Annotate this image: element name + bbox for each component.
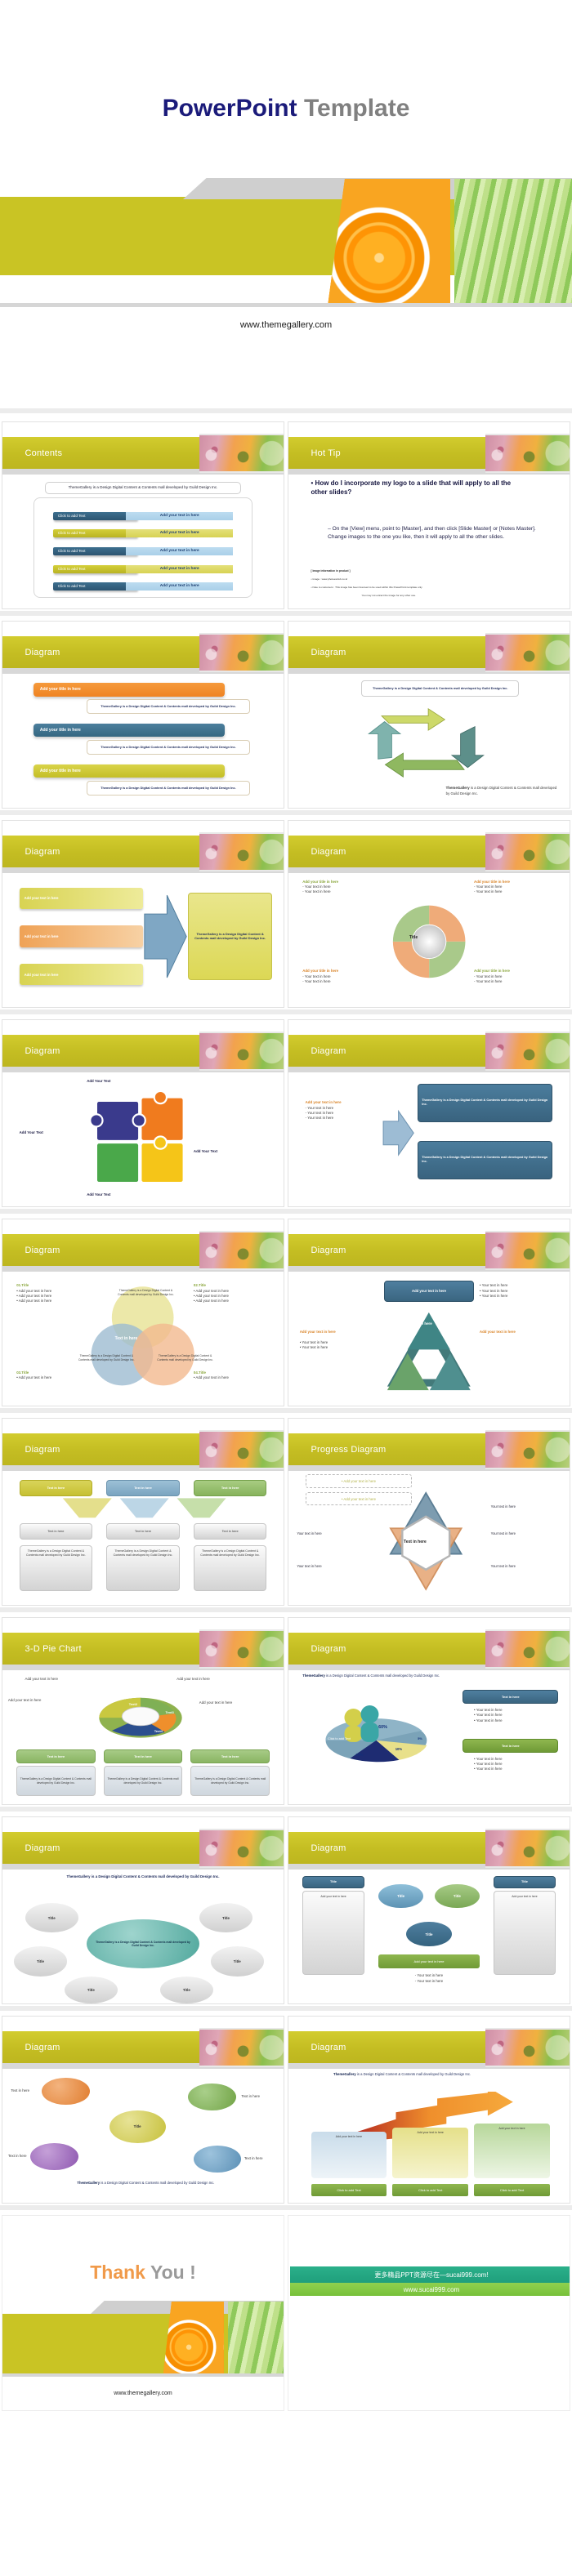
header-photo-strip <box>485 434 570 473</box>
slide-diagram-14[interactable]: Diagram ThemeGallery is a Design Digital… <box>288 2016 570 2204</box>
slide-body: Add your text in here Add your text in h… <box>2 871 284 1007</box>
arrow-col-2-title: Add your text in here <box>418 2131 444 2135</box>
corner-3: Add your title in here - Your text in he… <box>302 969 381 984</box>
funnel-top-3[interactable]: Text in here <box>194 1480 266 1496</box>
venn-center: Text in here <box>115 1336 138 1341</box>
puzzle-icon <box>75 1092 210 1190</box>
corner-4-line-1: - Your text in here <box>474 974 502 978</box>
center-line-1: - Your text in here <box>415 1973 443 1977</box>
callout-title-2[interactable]: Text in here <box>463 1739 558 1753</box>
corner-1-line-1: - Your text in here <box>302 885 330 889</box>
corner-1-title: Add your title in here <box>302 880 338 884</box>
funnel-bot-3: ThemeGallery is a Design Digital Content… <box>194 1545 266 1592</box>
pie-callout-1: Add your text in here <box>25 1677 87 1682</box>
lettuce-photo <box>454 179 572 306</box>
arrow-btn-2[interactable]: Click to add Text <box>392 2184 468 2196</box>
corner-3-line-2: - Your text in here <box>302 979 330 983</box>
slide-hot-tip[interactable]: Hot Tip • How do I incorporate my logo t… <box>288 421 570 609</box>
slide-body: Add your text in here • Your text in her… <box>288 1270 570 1406</box>
venn-b1-1: • Add your text in here <box>16 1289 51 1293</box>
slide-body: Title Add your text in here Title Add yo… <box>288 1868 570 2003</box>
callout2-line-3: • Your text in here <box>474 1767 503 1771</box>
donut-icon <box>390 893 468 991</box>
template-preview-sheet: PowerPoint Template www.themegallery.com… <box>0 0 572 2576</box>
header-photo-strip <box>199 2028 284 2067</box>
bar-note-3: ThemeGallery is a Design Digital Content… <box>87 781 250 796</box>
col-title-right[interactable]: Title <box>494 1876 556 1888</box>
venn-b1-2: • Add your text in here <box>16 1294 51 1298</box>
slide-header-title: Progress Diagram <box>311 1445 387 1455</box>
contents-left-1[interactable]: Click to add Text <box>53 512 137 520</box>
venn-title-1: 01.Title <box>16 1283 29 1287</box>
node-6[interactable]: Title <box>160 1977 213 2003</box>
photo-strip <box>81 2302 284 2375</box>
brand-rest: is a Design Digital Content & Contents m… <box>357 2072 471 2076</box>
tip-answer-text: On the [View] menu, point to [Master], a… <box>328 526 536 539</box>
star-label-2: Your text in here <box>297 1531 321 1535</box>
slide-contents[interactable]: Contents ThemeGallery is a Design Digita… <box>2 421 284 609</box>
contents-right-4[interactable]: Add your text in here <box>126 565 233 573</box>
header-photo-strip <box>485 1829 570 1868</box>
slide-header-title: Diagram <box>311 1843 346 1853</box>
row-separator <box>0 2205 572 2210</box>
page-title: PowerPoint Template <box>0 95 572 123</box>
callout-title-1[interactable]: Text in here <box>463 1690 558 1704</box>
corner-3-line-1: - Your text in here <box>302 974 330 978</box>
left-lines: • Your text in here • Your text in here <box>300 1340 378 1351</box>
row-separator <box>0 611 572 616</box>
orbit-label-4: Text in here <box>244 2156 263 2161</box>
arrow-col-1-title: Add your text in here <box>336 2135 362 2139</box>
slide-progress-diagram[interactable]: Progress Diagram • Add your text in here… <box>288 1418 570 1606</box>
slide-diagram-1[interactable]: Diagram Add your title in here ThemeGall… <box>2 621 284 809</box>
callout-line-1: • Your text in here <box>474 1708 503 1712</box>
arrow-col-2: Add your text in here <box>392 2128 468 2178</box>
pie-slice-3: Text3 <box>166 1710 174 1714</box>
row-separator <box>0 2006 572 2011</box>
star-label-1: Your text in here <box>491 1504 516 1509</box>
node-2[interactable]: Title <box>199 1903 252 1933</box>
slide-diagram-5[interactable]: Diagram Add Your Text Add Your Text Add … <box>2 1019 284 1207</box>
col-title-left[interactable]: Title <box>302 1876 364 1888</box>
slide-body: ThemeGallery is a Design Digital Content… <box>2 473 284 608</box>
slide-body: ThemeGallery is a Design Digital Content… <box>288 672 570 808</box>
slide-header-title: Diagram <box>25 847 60 857</box>
brand-name: ThemeGallery <box>446 786 470 790</box>
promo-line-1[interactable]: 更多精品PPT资源尽在—sucai999.com! <box>290 2266 570 2283</box>
slide-diagram-2[interactable]: Diagram ThemeGallery is a Design Digital… <box>288 621 570 809</box>
row-separator <box>0 810 572 815</box>
left-item-2[interactable]: Add your text in here <box>20 925 143 947</box>
arrow-col-3-title: Add your text in here <box>498 2127 525 2131</box>
slide-body: Add your title in here ThemeGallery is a… <box>2 672 284 808</box>
right-line-2: • Your text in here <box>480 1289 508 1293</box>
orbit-label-3: Text in here <box>8 2154 27 2159</box>
photo-strip <box>162 179 572 306</box>
slide-body: • Add your text in here • Add your text … <box>288 1469 570 1605</box>
percent-1: 60% <box>378 1725 387 1730</box>
corner-2-title: Add your title in here <box>474 880 510 884</box>
slide-diagram-9[interactable]: Diagram Text in here Text in here Text i… <box>2 1418 284 1606</box>
right-box-1[interactable]: ThemeGallery is a Design Digital Content… <box>418 1084 552 1122</box>
cycle-arrows-icon <box>339 702 525 781</box>
percent-2: 25% <box>356 1753 364 1757</box>
funnel-mid-2[interactable]: Text in here <box>106 1523 179 1540</box>
right-line-3: • Your text in here <box>480 1294 508 1298</box>
onion-photo <box>162 179 324 306</box>
venn-note-left: ThemeGallery is a Design Digital Content… <box>75 1354 137 1362</box>
slide-body: Text in here Text in here Text in here T… <box>2 1469 284 1605</box>
center-node: ThemeGallery is a Design Digital Content… <box>87 1919 199 1968</box>
left-line-1: • Your text in here <box>300 1340 328 1344</box>
slide-diagram-7[interactable]: Diagram 01.Title • Add your text in here… <box>2 1219 284 1406</box>
left-line-2: • Your text in here <box>300 1345 328 1349</box>
venn-note-right: ThemeGallery is a Design Digital Content… <box>154 1354 217 1362</box>
pie-slice-1: Text1 <box>78 1723 87 1727</box>
header-photo-strip <box>199 1430 284 1469</box>
slide-header-title: Diagram <box>25 1445 60 1455</box>
left-block-line-2: - Your text in here <box>306 1111 333 1115</box>
intro-note: ThemeGallery is a Design Digital Content… <box>302 1674 460 1678</box>
slide-body: Add your text in here Add your text in h… <box>2 1669 284 1804</box>
left-item-1[interactable]: Add your text in here <box>20 888 143 910</box>
header-photo-strip <box>199 1829 284 1868</box>
header-photo-strip <box>485 1231 570 1270</box>
slide-header-title: Diagram <box>25 1843 60 1853</box>
header-photo-strip <box>485 1629 570 1669</box>
header-photo-strip <box>485 832 570 871</box>
star-label-4: Your text in here <box>297 1564 321 1568</box>
star-label-3: Your text in here <box>491 1531 516 1535</box>
right-note: ThemeGallery is a Design Digital Content… <box>188 893 272 980</box>
brand-rest: is a Design Digital Content & Contents m… <box>101 2181 214 2185</box>
center-circle-3[interactable]: Title <box>406 1922 451 1946</box>
slide-diagram-6[interactable]: Diagram Add your text in here - Your tex… <box>288 1019 570 1207</box>
slide-diagram-13[interactable]: Diagram Title Text in here Text in here … <box>2 2016 284 2204</box>
slide-body: • How do I incorporate my logo to a slid… <box>288 473 570 608</box>
corner-4-line-2: - Your text in here <box>474 979 502 983</box>
venn-note-top: ThemeGallery is a Design Digital Content… <box>115 1289 177 1297</box>
puzzle-label-1: Add Your Text <box>87 1079 110 1084</box>
donut-center-label: Title <box>409 935 418 940</box>
arrow-note: ThemeGallery is a Design Digital Content… <box>333 2072 507 2077</box>
right-title: Add your text in here <box>480 1330 558 1335</box>
header-photo-strip <box>199 832 284 871</box>
brand-rest: is a Design Digital Content & Contents m… <box>326 1674 440 1678</box>
callout-lines-2: • Your text in here • Your text in here … <box>474 1757 564 1772</box>
row-separator <box>0 1807 572 1812</box>
slide-3d-pie-chart[interactable]: 3-D Pie Chart Add your text in here Add … <box>2 1617 284 1805</box>
thank-you-word-1: Thank <box>90 2262 145 2283</box>
callout-line-3: • Your text in here <box>474 1718 503 1723</box>
slide-body: Add your title in here - Your text in he… <box>288 871 570 1007</box>
triangle-center: Text in here <box>412 1321 431 1326</box>
corner-1: Add your title in here - Your text in he… <box>302 880 381 895</box>
slide-header-title: Diagram <box>25 2043 60 2052</box>
venn-icon <box>81 1281 204 1397</box>
left-block: Add your text in here - Your text in her… <box>306 1100 378 1121</box>
funnel-top-1[interactable]: Text in here <box>20 1480 92 1496</box>
corner-2-line-1: - Your text in here <box>474 885 502 889</box>
arrow-btn-1[interactable]: Click to add Text <box>311 2184 387 2196</box>
orbit-node-1[interactable] <box>42 2078 89 2105</box>
tip-question-text: How do I incorporate my logo to a slide … <box>311 479 512 496</box>
cycle-caption: ThemeGallery is a Design Digital Content… <box>446 786 559 796</box>
orbit-node-center[interactable]: Title <box>109 2110 166 2143</box>
pie-inner-label: Click to add Text <box>328 1737 351 1740</box>
site-url[interactable]: www.themegallery.com <box>2 2391 284 2396</box>
contents-left-5[interactable]: Click to add Text <box>53 582 137 591</box>
funnel-bot-1: ThemeGallery is a Design Digital Content… <box>20 1545 92 1592</box>
image-info-title: [ Image information in product ] <box>311 569 553 573</box>
image-info-line-1: • Image : www.photoesclub.co.kr <box>311 577 553 582</box>
orange-photo <box>163 2302 224 2375</box>
header-photo-strip <box>485 1032 570 1071</box>
callout2-line-1: • Your text in here <box>474 1757 503 1761</box>
people-pie-icon <box>306 1698 452 1772</box>
center-lines: - Your text in here - Your text in here <box>378 1973 480 1984</box>
venn-b3-1: • Add your text in here <box>16 1375 51 1379</box>
slide-header-title: Diagram <box>25 1046 60 1056</box>
slide-body: Title Text in here Text in here Text in … <box>2 2067 284 2203</box>
slide-body: 01.Title • Add your text in here • Add y… <box>2 1270 284 1406</box>
left-block-line-3: - Your text in here <box>306 1116 333 1120</box>
pie-slice-4: Text4 <box>154 1729 163 1733</box>
header-photo-strip <box>199 633 284 672</box>
percent-4: 5% <box>418 1737 422 1740</box>
slide-header-title: Diagram <box>311 2043 346 2052</box>
slide-thank-you[interactable]: Thank You ! www.themegallery.com <box>2 2215 284 2411</box>
funnel-icon <box>20 1497 267 1519</box>
bar-title-2[interactable]: Add your title in here <box>34 724 225 738</box>
percent-3: 10% <box>395 1747 402 1751</box>
slide-header-title: Diagram <box>311 1644 346 1654</box>
right-box-2[interactable]: ThemeGallery is a Design Digital Content… <box>418 1141 552 1179</box>
bar-note-1: ThemeGallery is a Design Digital Content… <box>87 699 250 714</box>
center-circle-1[interactable]: Title <box>378 1884 423 1909</box>
slide-header-title: Diagram <box>311 1046 346 1056</box>
slide-diagram-3[interactable]: Diagram Add your text in here Add your t… <box>2 820 284 1008</box>
center-button[interactable]: Add your text in here <box>378 1954 480 1968</box>
row-separator <box>0 1408 572 1413</box>
orbit-node-2[interactable] <box>188 2084 235 2110</box>
orbit-note: ThemeGallery is a Design Digital Content… <box>65 2181 228 2186</box>
satellite-note: ThemeGallery is a Design Digital Content… <box>59 1874 227 1879</box>
brand-name: ThemeGallery <box>302 1674 325 1678</box>
header-photo-strip <box>199 1032 284 1071</box>
slide-header-title: Contents <box>25 448 63 458</box>
row-separator <box>0 1009 572 1014</box>
slide-header-title: Diagram <box>311 648 346 657</box>
corner-4-title: Add your title in here <box>474 969 510 973</box>
brand-name: ThemeGallery <box>333 2072 356 2076</box>
slide-promo[interactable]: 更多精品PPT资源尽在—sucai999.com! www.sucai999.c… <box>288 2215 570 2411</box>
header-photo-strip <box>485 633 570 672</box>
header-photo-strip <box>199 1231 284 1270</box>
slide-body: Add your text in here - Your text in her… <box>288 1071 570 1206</box>
callout2-line-2: • Your text in here <box>474 1762 503 1766</box>
slide-body: Add Your Text Add Your Text Add Your Tex… <box>2 1071 284 1206</box>
promo-line-2[interactable]: www.sucai999.com <box>290 2283 570 2296</box>
slide-diagram-12[interactable]: Diagram Title Add your text in here Titl… <box>288 1816 570 2004</box>
image-info-note: Note to customers : This image has been … <box>312 586 422 589</box>
title-light: Template <box>304 95 409 122</box>
venn-label-2: 02.Title • Add your text in here • Add y… <box>194 1283 272 1304</box>
pie-cellnote-1: ThemeGallery is a Design Digital Content… <box>16 1766 95 1796</box>
funnel-mid-3[interactable]: Text in here <box>194 1523 266 1540</box>
slide-header-title: Hot Tip <box>311 448 341 458</box>
corner-4: Add your title in here - Your text in he… <box>474 969 558 984</box>
header-photo-strip <box>485 2028 570 2067</box>
left-item-3[interactable]: Add your text in here <box>20 964 143 986</box>
corner-2-line-2: - Your text in here <box>474 889 502 894</box>
venn-b1-3: • Add your text in here <box>16 1299 51 1303</box>
star-center-label: Text in here <box>404 1540 427 1544</box>
right-line-1: • Your text in here <box>480 1283 508 1287</box>
contents-right-5[interactable]: Add your text in here <box>126 582 233 591</box>
orange-photo <box>328 179 450 306</box>
right-arrow-icon <box>143 882 188 991</box>
onion-photo <box>81 2302 159 2375</box>
right-lines: • Your text in here • Your text in here … <box>480 1283 558 1299</box>
contents-left-4[interactable]: Click to add Text <box>53 565 137 573</box>
pie-cell-3[interactable]: Text in here <box>190 1749 269 1763</box>
left-title: Add your text in here <box>300 1330 378 1335</box>
node-4[interactable]: Title <box>211 1946 264 1977</box>
contents-left-2[interactable]: Click to add Text <box>53 529 137 537</box>
row-separator <box>0 1607 572 1612</box>
venn-title-3: 03.Title <box>16 1370 29 1375</box>
lettuce-photo <box>228 2302 284 2375</box>
bar-title-3[interactable]: Add your title in here <box>34 764 225 778</box>
funnel-top-2[interactable]: Text in here <box>106 1480 179 1496</box>
bar-note-2: ThemeGallery is a Design Digital Content… <box>87 740 250 755</box>
left-block-line-1: - Your text in here <box>306 1106 333 1110</box>
corner-3-title: Add your title in here <box>302 969 338 973</box>
left-block-title: Add your text in here <box>306 1100 342 1104</box>
corner-1-line-2: - Your text in here <box>302 889 330 894</box>
top-box[interactable]: Add your text in here <box>384 1281 474 1303</box>
center-line-2: - Your text in here <box>415 1979 443 1983</box>
contents-note: ThemeGallery is a Design Digital Content… <box>45 482 242 494</box>
orbit-node-3[interactable] <box>30 2143 78 2170</box>
pie-cellnote-3: ThemeGallery is a Design Digital Content… <box>190 1766 269 1796</box>
center-circle-2[interactable]: Title <box>435 1884 480 1909</box>
pie-slice-2: Text2 <box>129 1702 137 1706</box>
triangle-cycle-icon <box>373 1305 485 1397</box>
cycle-note: ThemeGallery is a Design Digital Content… <box>361 680 519 697</box>
divider <box>0 303 572 307</box>
tip-answer: – On the [View] menu, point to [Master],… <box>328 525 541 541</box>
divider <box>2 2373 284 2377</box>
brand-name: ThemeGallery <box>77 2181 100 2185</box>
star-label-5: Your text in here <box>491 1564 516 1568</box>
image-info-line-3: You may not extract the image for any ot… <box>361 594 558 598</box>
node-1[interactable]: Title <box>25 1903 78 1933</box>
node-5[interactable]: Title <box>65 1977 118 2003</box>
corner-2: Add your title in here - Your text in he… <box>474 880 558 895</box>
contents-right-1[interactable]: Add your text in here <box>126 512 233 520</box>
header-photo-strip <box>485 1430 570 1469</box>
pie-callout-3: Add your text in here <box>8 1698 70 1703</box>
slide-header-title: Diagram <box>25 648 60 657</box>
right-arrow-icon <box>382 1106 415 1161</box>
funnel-bot-2: ThemeGallery is a Design Digital Content… <box>106 1545 179 1592</box>
orbit-node-4[interactable] <box>194 2146 241 2173</box>
slide-header-title: 3-D Pie Chart <box>25 1644 82 1654</box>
slide-diagram-8[interactable]: Diagram Add your text in here • Your tex… <box>288 1219 570 1406</box>
image-info-line-2: • Note to customers : This image has bee… <box>311 586 559 590</box>
pie-cell-1[interactable]: Text in here <box>16 1749 95 1763</box>
slide-body: ThemeGallery is a Design Digital Content… <box>288 2067 570 2203</box>
slide-header-title: Diagram <box>311 1246 346 1255</box>
pie-callout-2: Add your text in here <box>177 1677 239 1682</box>
callout-lines-1: • Your text in here • Your text in here … <box>474 1708 564 1723</box>
image-info-source: Image : www.photoesclub.co.kr <box>312 577 347 581</box>
thank-you-title: Thank You ! <box>2 2262 284 2284</box>
puzzle-label-2: Add Your Text <box>20 1130 43 1135</box>
callout-line-2: • Your text in here <box>474 1713 503 1717</box>
title-bold: PowerPoint <box>163 95 297 122</box>
arrow-col-3: Add your text in here <box>474 2124 550 2178</box>
node-3[interactable]: Title <box>14 1946 67 1977</box>
slide-title[interactable]: PowerPoint Template www.themegallery.com <box>0 0 572 381</box>
contents-right-3[interactable]: Add your text in here <box>126 547 233 555</box>
tip-question: • How do I incorporate my logo to a slid… <box>311 479 514 497</box>
slide-diagram-10[interactable]: Diagram ThemeGallery is a Design Digital… <box>288 1617 570 1805</box>
thank-you-word-2: You ! <box>150 2262 196 2283</box>
slide-header-title: Diagram <box>25 1246 60 1255</box>
venn-label-4: 04.Title • Add your text in here <box>194 1370 272 1381</box>
slide-body: ThemeGallery is a Design Digital Content… <box>2 1868 284 2003</box>
row-separator <box>0 1209 572 1214</box>
image-info-heading: [ Image information in product ] <box>311 569 351 573</box>
header-photo-strip <box>199 1629 284 1669</box>
slide-header-title: Diagram <box>311 847 346 857</box>
contents-right-2[interactable]: Add your text in here <box>126 529 233 537</box>
col-body-left: Add your text in here <box>302 1891 364 1975</box>
slide-diagram-4[interactable]: Diagram Add your title in here - Your te… <box>288 820 570 1008</box>
header-photo-strip <box>199 434 284 473</box>
pie-3d-icon <box>70 1685 211 1742</box>
slide-diagram-11[interactable]: Diagram ThemeGallery is a Design Digital… <box>2 1816 284 2004</box>
col-body-right: Add your text in here <box>494 1891 556 1975</box>
arrow-btn-3[interactable]: Click to add Text <box>474 2184 550 2196</box>
orbit-label-2: Text in here <box>241 2094 260 2099</box>
funnel-mid-1[interactable]: Text in here <box>20 1523 92 1540</box>
orbit-label-1: Text in here <box>11 2088 29 2093</box>
slide-body: ThemeGallery is a Design Digital Content… <box>288 1669 570 1804</box>
pie-cellnote-2: ThemeGallery is a Design Digital Content… <box>104 1766 182 1796</box>
row-separator <box>0 408 572 413</box>
contents-left-3[interactable]: Click to add Text <box>53 547 137 555</box>
pie-cell-2[interactable]: Text in here <box>104 1749 182 1763</box>
arrow-col-1: Add your text in here <box>311 2132 387 2178</box>
site-url[interactable]: www.themegallery.com <box>0 320 572 330</box>
bar-title-1[interactable]: Add your title in here <box>34 683 225 697</box>
puzzle-label-4: Add Your Text <box>87 1192 110 1197</box>
